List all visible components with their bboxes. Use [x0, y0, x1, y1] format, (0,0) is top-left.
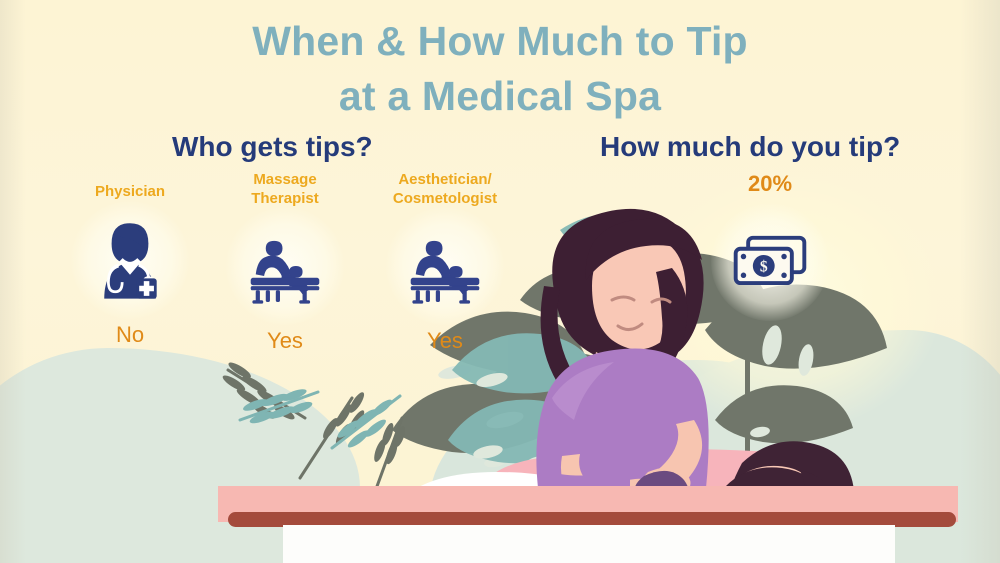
infographic-poster: When & How Much to Tip at a Medical Spa …	[0, 0, 1000, 563]
therapist-figure	[536, 209, 708, 517]
role-label-line-2: Cosmetologist	[360, 189, 530, 208]
title-line-2: at a Medical Spa	[0, 69, 1000, 124]
page-title: When & How Much to Tip at a Medical Spa	[0, 14, 1000, 123]
edge-vignette-right	[960, 0, 1000, 563]
physician-icon	[71, 210, 189, 310]
title-line-1: When & How Much to Tip	[0, 14, 1000, 69]
role-label-line-1: Aesthetician/	[360, 170, 530, 189]
aesthetician-icon	[386, 216, 504, 316]
massage-table-base	[283, 525, 895, 563]
tip-amount-value: 20%	[685, 170, 855, 198]
role-label-aesthetician: Aesthetician/ Cosmetologist	[360, 170, 530, 208]
edge-vignette-left	[0, 0, 26, 563]
svg-text:$: $	[760, 259, 768, 276]
tip-amount-column: 20% $	[685, 170, 855, 312]
heading-how-much-to-tip: How much do you tip?	[600, 131, 900, 163]
money-banknotes-icon: $	[711, 212, 829, 312]
role-label-massage-therapist: Massage Therapist	[200, 170, 370, 208]
tip-amount-label: 20%	[685, 170, 855, 198]
role-label-line-1: Physician	[45, 182, 215, 201]
answer-aesthetician: Yes	[360, 328, 530, 354]
role-label-physician: Physician	[45, 182, 215, 202]
heading-who-gets-tips: Who gets tips?	[172, 131, 373, 163]
role-column-massage-therapist: Massage Therapist	[200, 170, 370, 354]
role-label-line-1: Massage	[200, 170, 370, 189]
massage-therapist-icon	[226, 216, 344, 316]
role-column-aesthetician: Aesthetician/ Cosmetologist	[360, 170, 530, 354]
answer-physician: No	[45, 322, 215, 348]
role-column-physician: Physician No	[45, 182, 215, 348]
answer-massage-therapist: Yes	[200, 328, 370, 354]
role-label-line-2: Therapist	[200, 189, 370, 208]
